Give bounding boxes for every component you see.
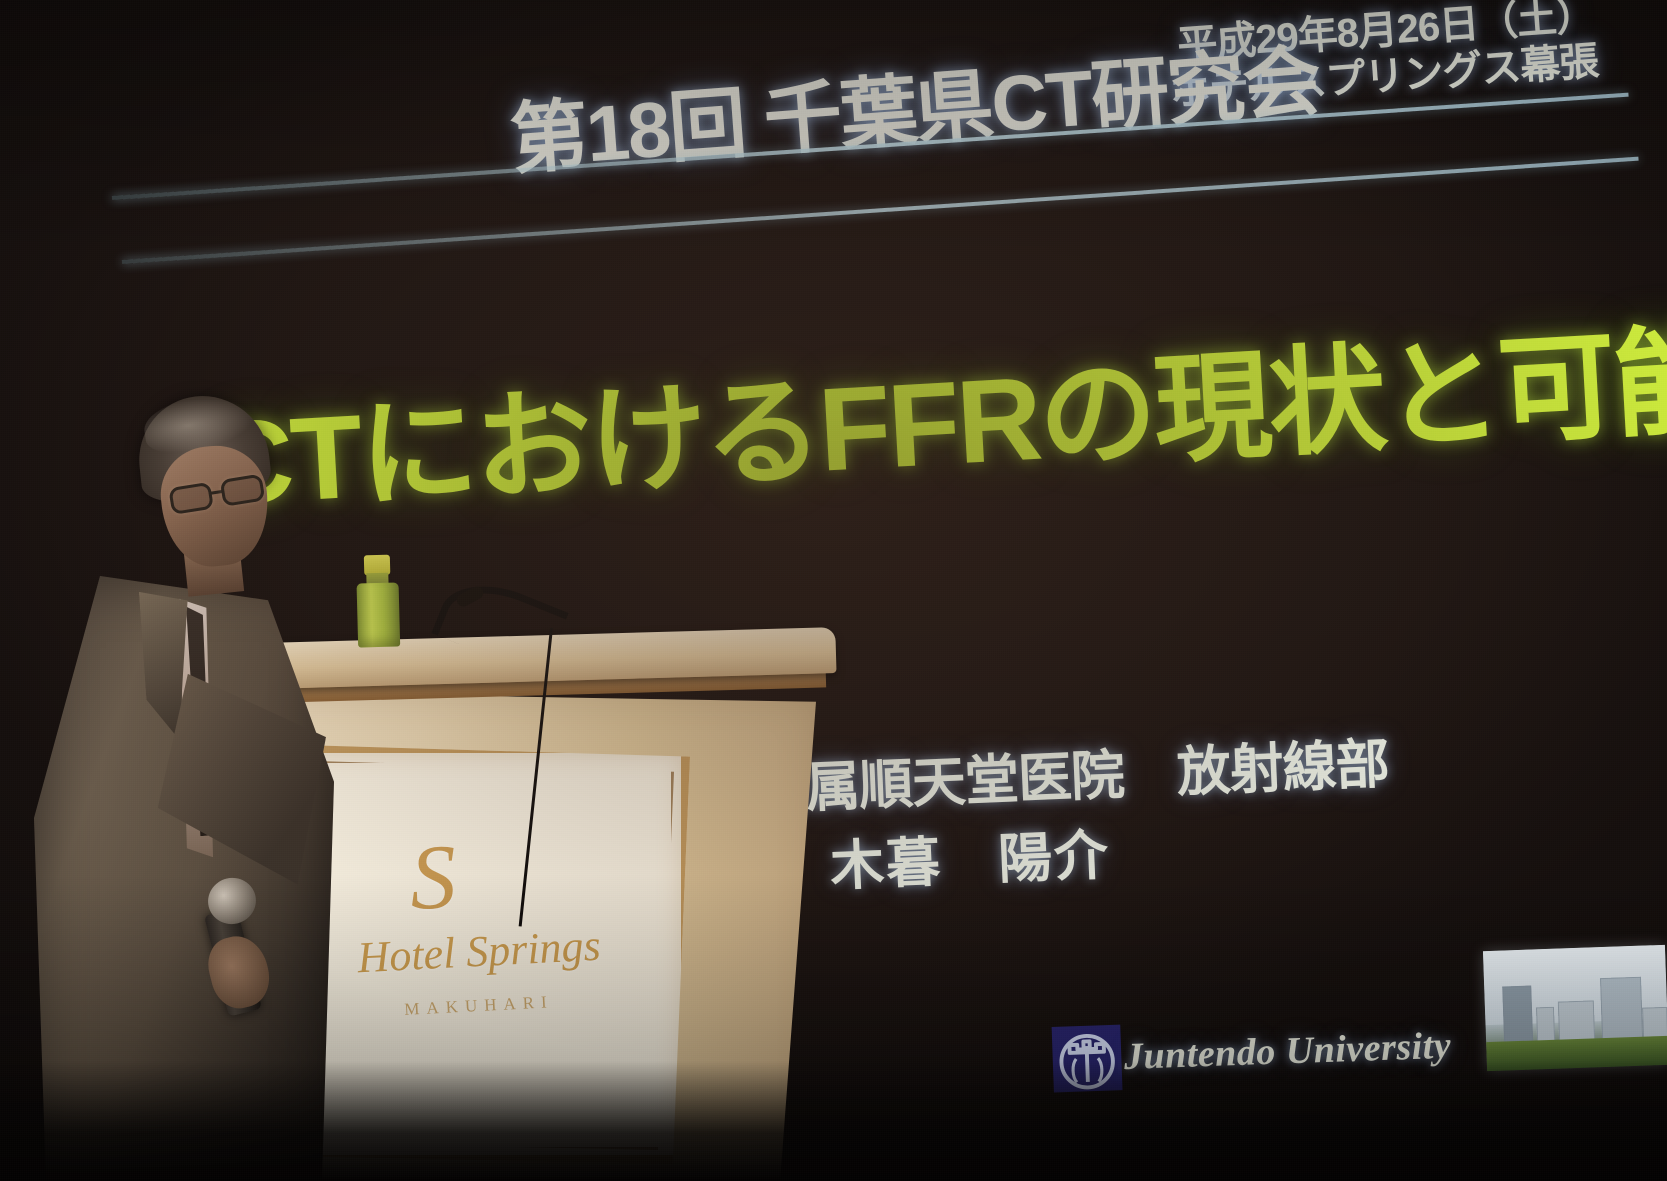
bottle-body <box>357 582 401 647</box>
campus-photo-thumbnail <box>1483 945 1667 1071</box>
slide-presenter-name: 木暮 陽介 <box>828 810 1111 901</box>
green-tea-bottle <box>356 554 400 647</box>
eyeglass-lens-left <box>168 482 214 515</box>
slide-divider-lower <box>122 157 1639 264</box>
eyeglass-lens-right <box>220 474 266 507</box>
stage-floor-shadow <box>0 1061 1667 1181</box>
podium-gooseneck-microphone <box>440 588 570 674</box>
hotel-springs-monogram-icon: S <box>408 823 458 931</box>
conference-photo: 平成29年8月26日（土） ホテルスプリングス幕張 第18回 千葉県CT研究会 … <box>0 0 1667 1181</box>
slide-main-title: CTにおけるFFRの現状と可能性 <box>203 277 1667 539</box>
